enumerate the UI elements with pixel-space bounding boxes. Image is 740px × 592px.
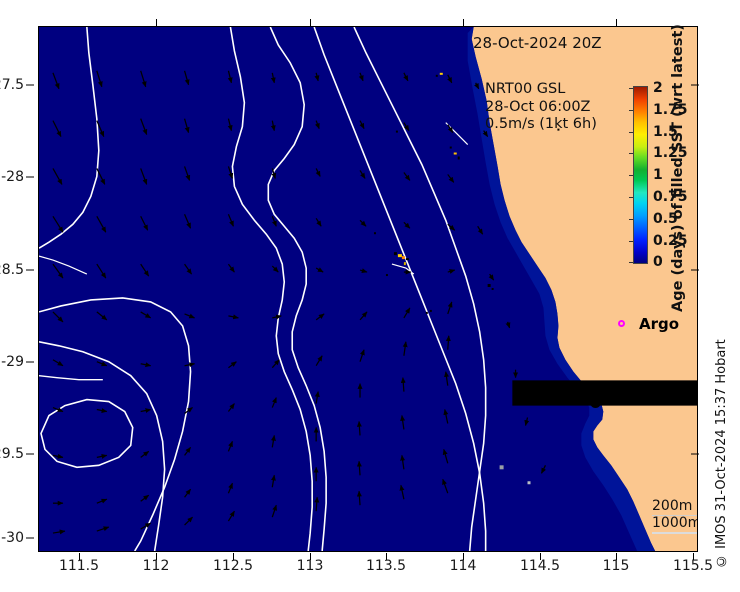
colorbar-tick-7: [629, 241, 633, 242]
colorbar-tick-2: [629, 132, 633, 133]
colorbar[interactable]: 2 1.75 1.5 1.25 1 0.75 0.5 0.25 0: [633, 86, 648, 264]
x-tick-mark-0: [79, 553, 80, 560]
x-top-tick-mark-3: [616, 19, 617, 26]
x-tick-mark-3: [310, 553, 311, 560]
x-tick-label-0: 111.5: [59, 558, 99, 574]
colorbar-tick-3: [629, 153, 633, 154]
x-top-tick-mark-1: [310, 19, 311, 26]
colorbar-label-8: 0: [653, 254, 663, 270]
x-tick-mark-1: [156, 553, 157, 560]
figure-root: 28-Oct-2024 20Z NRT00 GSL 28-Oct 06:00Z …: [0, 0, 740, 592]
colorbar-tick-0: [629, 88, 633, 89]
x-tick-mark-2: [233, 553, 234, 560]
colorbar-tick-5: [629, 197, 633, 198]
colorbar-tick-6: [629, 219, 633, 220]
x-tick-mark-6: [540, 553, 541, 560]
colorbar-tick-8: [629, 262, 633, 263]
colorbar-gradient: [633, 86, 648, 264]
x-tick-mark-5: [463, 553, 464, 560]
x-tick-label-3: 113: [297, 558, 324, 574]
colorbar-tick-4: [629, 175, 633, 176]
colorbar-axis-title: Age (days) of filled SST (wrt latest): [666, 28, 690, 308]
credit-text: © IMOS 31-Oct-2024 15:37 Hobart: [714, 318, 734, 568]
x-tick-label-5: 114: [450, 558, 477, 574]
x-tick-label-1: 112: [143, 558, 170, 574]
colorbar-label-0: 2: [653, 80, 663, 96]
colorbar-label-4: 1: [653, 167, 663, 183]
x-top-tick-mark-0: [156, 19, 157, 26]
x-tick-label-4: 113.5: [366, 558, 406, 574]
x-tick-label-8: 115.5: [673, 558, 713, 574]
colorbar-tick-1: [629, 110, 633, 111]
x-tick-mark-4: [386, 553, 387, 560]
x-tick-mark-7: [616, 553, 617, 560]
x-tick-mark-8: [693, 553, 694, 560]
x-tick-label-2: 112.5: [213, 558, 253, 574]
x-tick-label-7: 115: [603, 558, 630, 574]
x-top-tick-mark-2: [463, 19, 464, 26]
x-tick-label-6: 114.5: [520, 558, 560, 574]
